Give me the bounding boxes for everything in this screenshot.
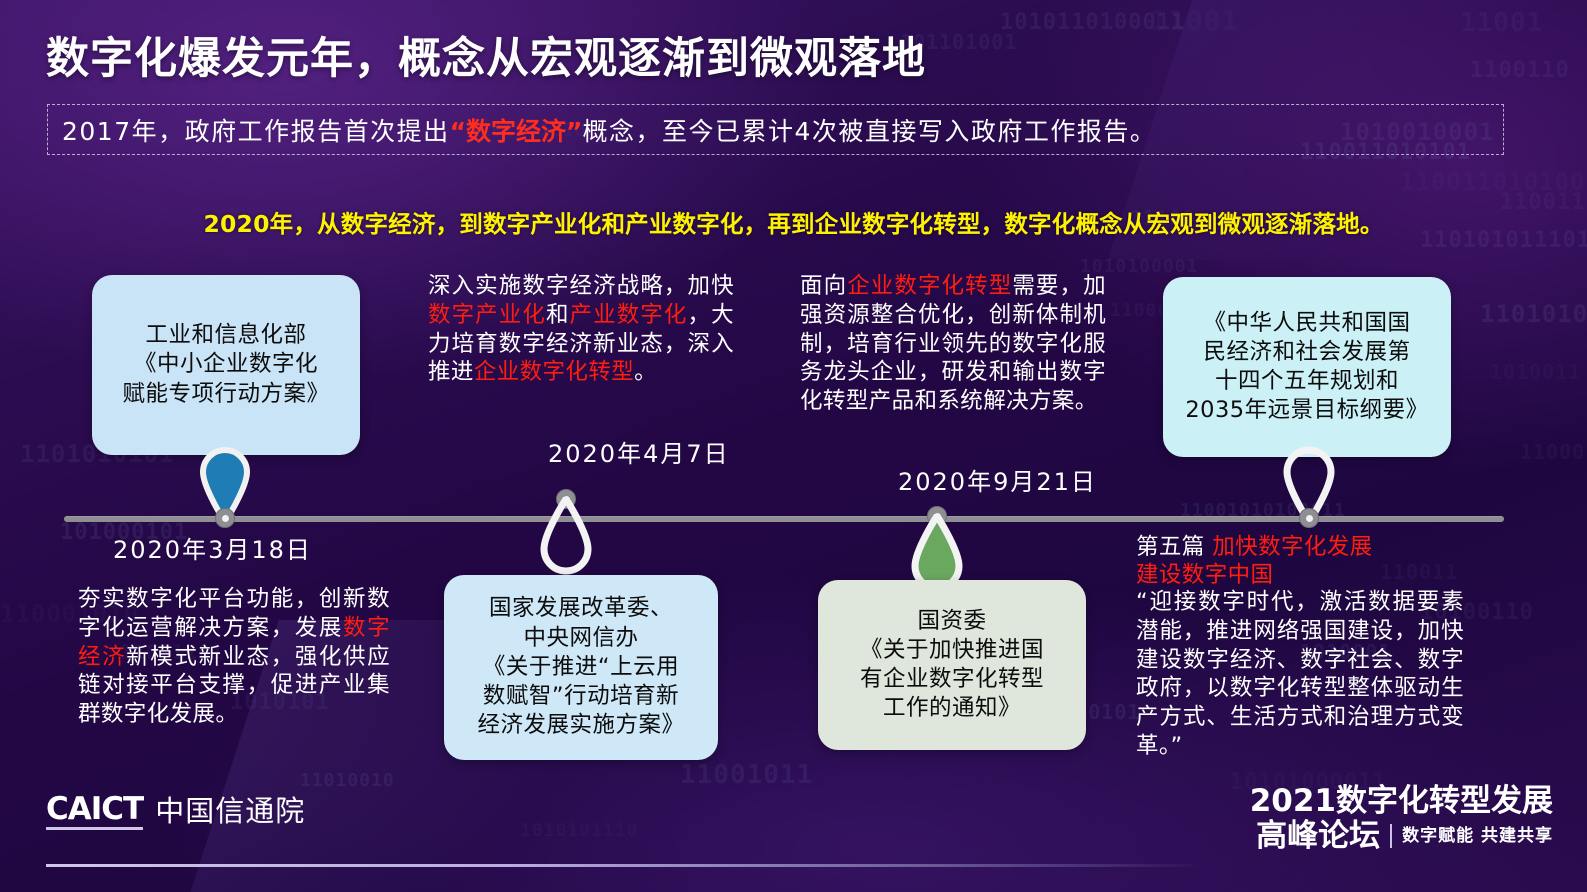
subtitle-text: 2017年，政府工作报告首次提出“数字经济”概念，至今已累计4次被直接写入政府工… — [62, 112, 1156, 148]
col4-body: “迎接数字时代，激活数据要素潜能，推进网络强国建设，加快建设数字经济、数字社会、… — [1136, 589, 1464, 759]
timeline-node-4 — [1299, 508, 1319, 528]
card-ndrc-text: 国家发展改革委、 中央网信办 《关于推进“上云用 数赋智”行动培育新 经济发展实… — [477, 594, 684, 740]
card-sasac: 国资委 《关于加快推进国 有企业数字化转型 工作的通知》 — [818, 580, 1086, 750]
binary-digits: 1100011 — [1520, 440, 1587, 464]
col4-heading-red: 加快数字化发展 — [1212, 534, 1372, 560]
forum-logo-line1: 2021数字化转型发展 — [1250, 784, 1553, 819]
timeline-date-1: 2020年3月18日 — [113, 530, 312, 565]
card-sasac-text: 国资委 《关于加快推进国 有企业数字化转型 工作的通知》 — [860, 607, 1044, 724]
slide-canvas: 1100111001110011010100100011100110101011… — [0, 0, 1587, 892]
card-miit: 工业和信息化部 《中小企业数字化 赋能专项行动方案》 — [92, 275, 360, 455]
col4-heading-black: 第五篇 — [1136, 534, 1205, 560]
caict-logo: CAICT 中国信通院 — [46, 794, 305, 830]
page-title: 数字化爆发元年，概念从宏观逐渐到微观落地 — [46, 24, 926, 86]
description-col-3: 面向企业数字化转型需要，加强资源整合优化，创新体制机制，培育行业领先的数字化服务… — [800, 272, 1106, 416]
subtitle-post: 概念，至今已累计4次被直接写入政府工作报告。 — [583, 117, 1157, 146]
caict-logo-cn: 中国信通院 — [155, 797, 305, 830]
caict-logo-mark: CAICT — [46, 794, 143, 830]
binary-digits: 11001101010001 — [1400, 168, 1587, 196]
binary-digits: 1010101110 — [520, 820, 638, 841]
binary-digits: 1101010010 — [1480, 300, 1587, 328]
desc3-seg2: 企业数字化转型 — [847, 273, 1012, 299]
timeline-node-1 — [215, 508, 235, 528]
binary-digits: 1010110100011 — [1000, 10, 1185, 35]
card-five-year-plan: 《中华人民共和国国 民经济和社会发展第 十四个五年规划和 2035年远景目标纲要… — [1163, 277, 1451, 457]
highlight-statement: 2020年，从数字经济，到数字产业化和产业数字化，再到企业数字化转型，数字化概念… — [0, 205, 1587, 239]
timeline-date-3: 2020年9月21日 — [898, 462, 1097, 497]
binary-digits: 11001011 — [680, 760, 813, 790]
forum-logo-line2-big: 高峰论坛 — [1256, 819, 1380, 854]
description-col-1: 夯实数字化平台功能，创新数字化运营解决方案，发展数字经济新模式新业态，强化供应链… — [78, 585, 390, 729]
desc2-seg7: 。 — [634, 359, 657, 385]
col4-heading: 第五篇 加快数字化发展 建设数字中国 — [1136, 533, 1466, 590]
subtitle-banner: 2017年，政府工作报告首次提出“数字经济”概念，至今已累计4次被直接写入政府工… — [47, 104, 1504, 155]
binary-digits: 1100110 — [1470, 58, 1570, 83]
card-five-year-plan-text: 《中华人民共和国国 民经济和社会发展第 十四个五年规划和 2035年远景目标纲要… — [1185, 309, 1428, 426]
forum-logo-line2: 高峰论坛 数字赋能 共建共享 — [1250, 819, 1553, 854]
footer-divider — [46, 864, 1206, 867]
desc2-seg1: 深入实施数字经济战略，加快 — [428, 273, 734, 299]
forum-logo: 2021数字化转型发展 高峰论坛 数字赋能 共建共享 — [1250, 784, 1553, 853]
description-col-4: “迎接数字时代，激活数据要素潜能，推进网络强国建设，加快建设数字经济、数字社会、… — [1136, 588, 1464, 761]
card-ndrc: 国家发展改革委、 中央网信办 《关于推进“上云用 数赋智”行动培育新 经济发展实… — [444, 575, 718, 760]
desc2-seg2: 数字产业化 — [428, 302, 546, 328]
binary-digits: 1010011 — [1490, 360, 1581, 384]
desc2-seg4: 产业数字化 — [570, 302, 688, 328]
subtitle-highlight: “数字经济” — [450, 117, 583, 146]
binary-digits: 11001 — [1150, 4, 1239, 37]
desc2-seg6: 企业数字化转型 — [474, 359, 634, 385]
binary-digits: 11001 — [1460, 8, 1543, 38]
description-col-2: 深入实施数字经济战略，加快数字产业化和产业数字化，大力培育数字经济新业态，深入推… — [428, 272, 734, 387]
card-miit-text: 工业和信息化部 《中小企业数字化 赋能专项行动方案》 — [122, 321, 329, 409]
desc2-seg3: 和 — [546, 302, 570, 328]
pin-marker-2 — [537, 497, 595, 581]
subtitle-pre: 2017年，政府工作报告首次提出 — [62, 117, 450, 146]
col4-heading-red2: 建设数字中国 — [1136, 562, 1273, 588]
timeline-date-2: 2020年4月7日 — [548, 434, 730, 469]
forum-logo-separator — [1390, 824, 1392, 848]
binary-digits: 11010010 — [300, 770, 395, 791]
desc3-seg1: 面向 — [800, 273, 847, 299]
forum-logo-tagline: 数字赋能 共建共享 — [1402, 827, 1553, 846]
